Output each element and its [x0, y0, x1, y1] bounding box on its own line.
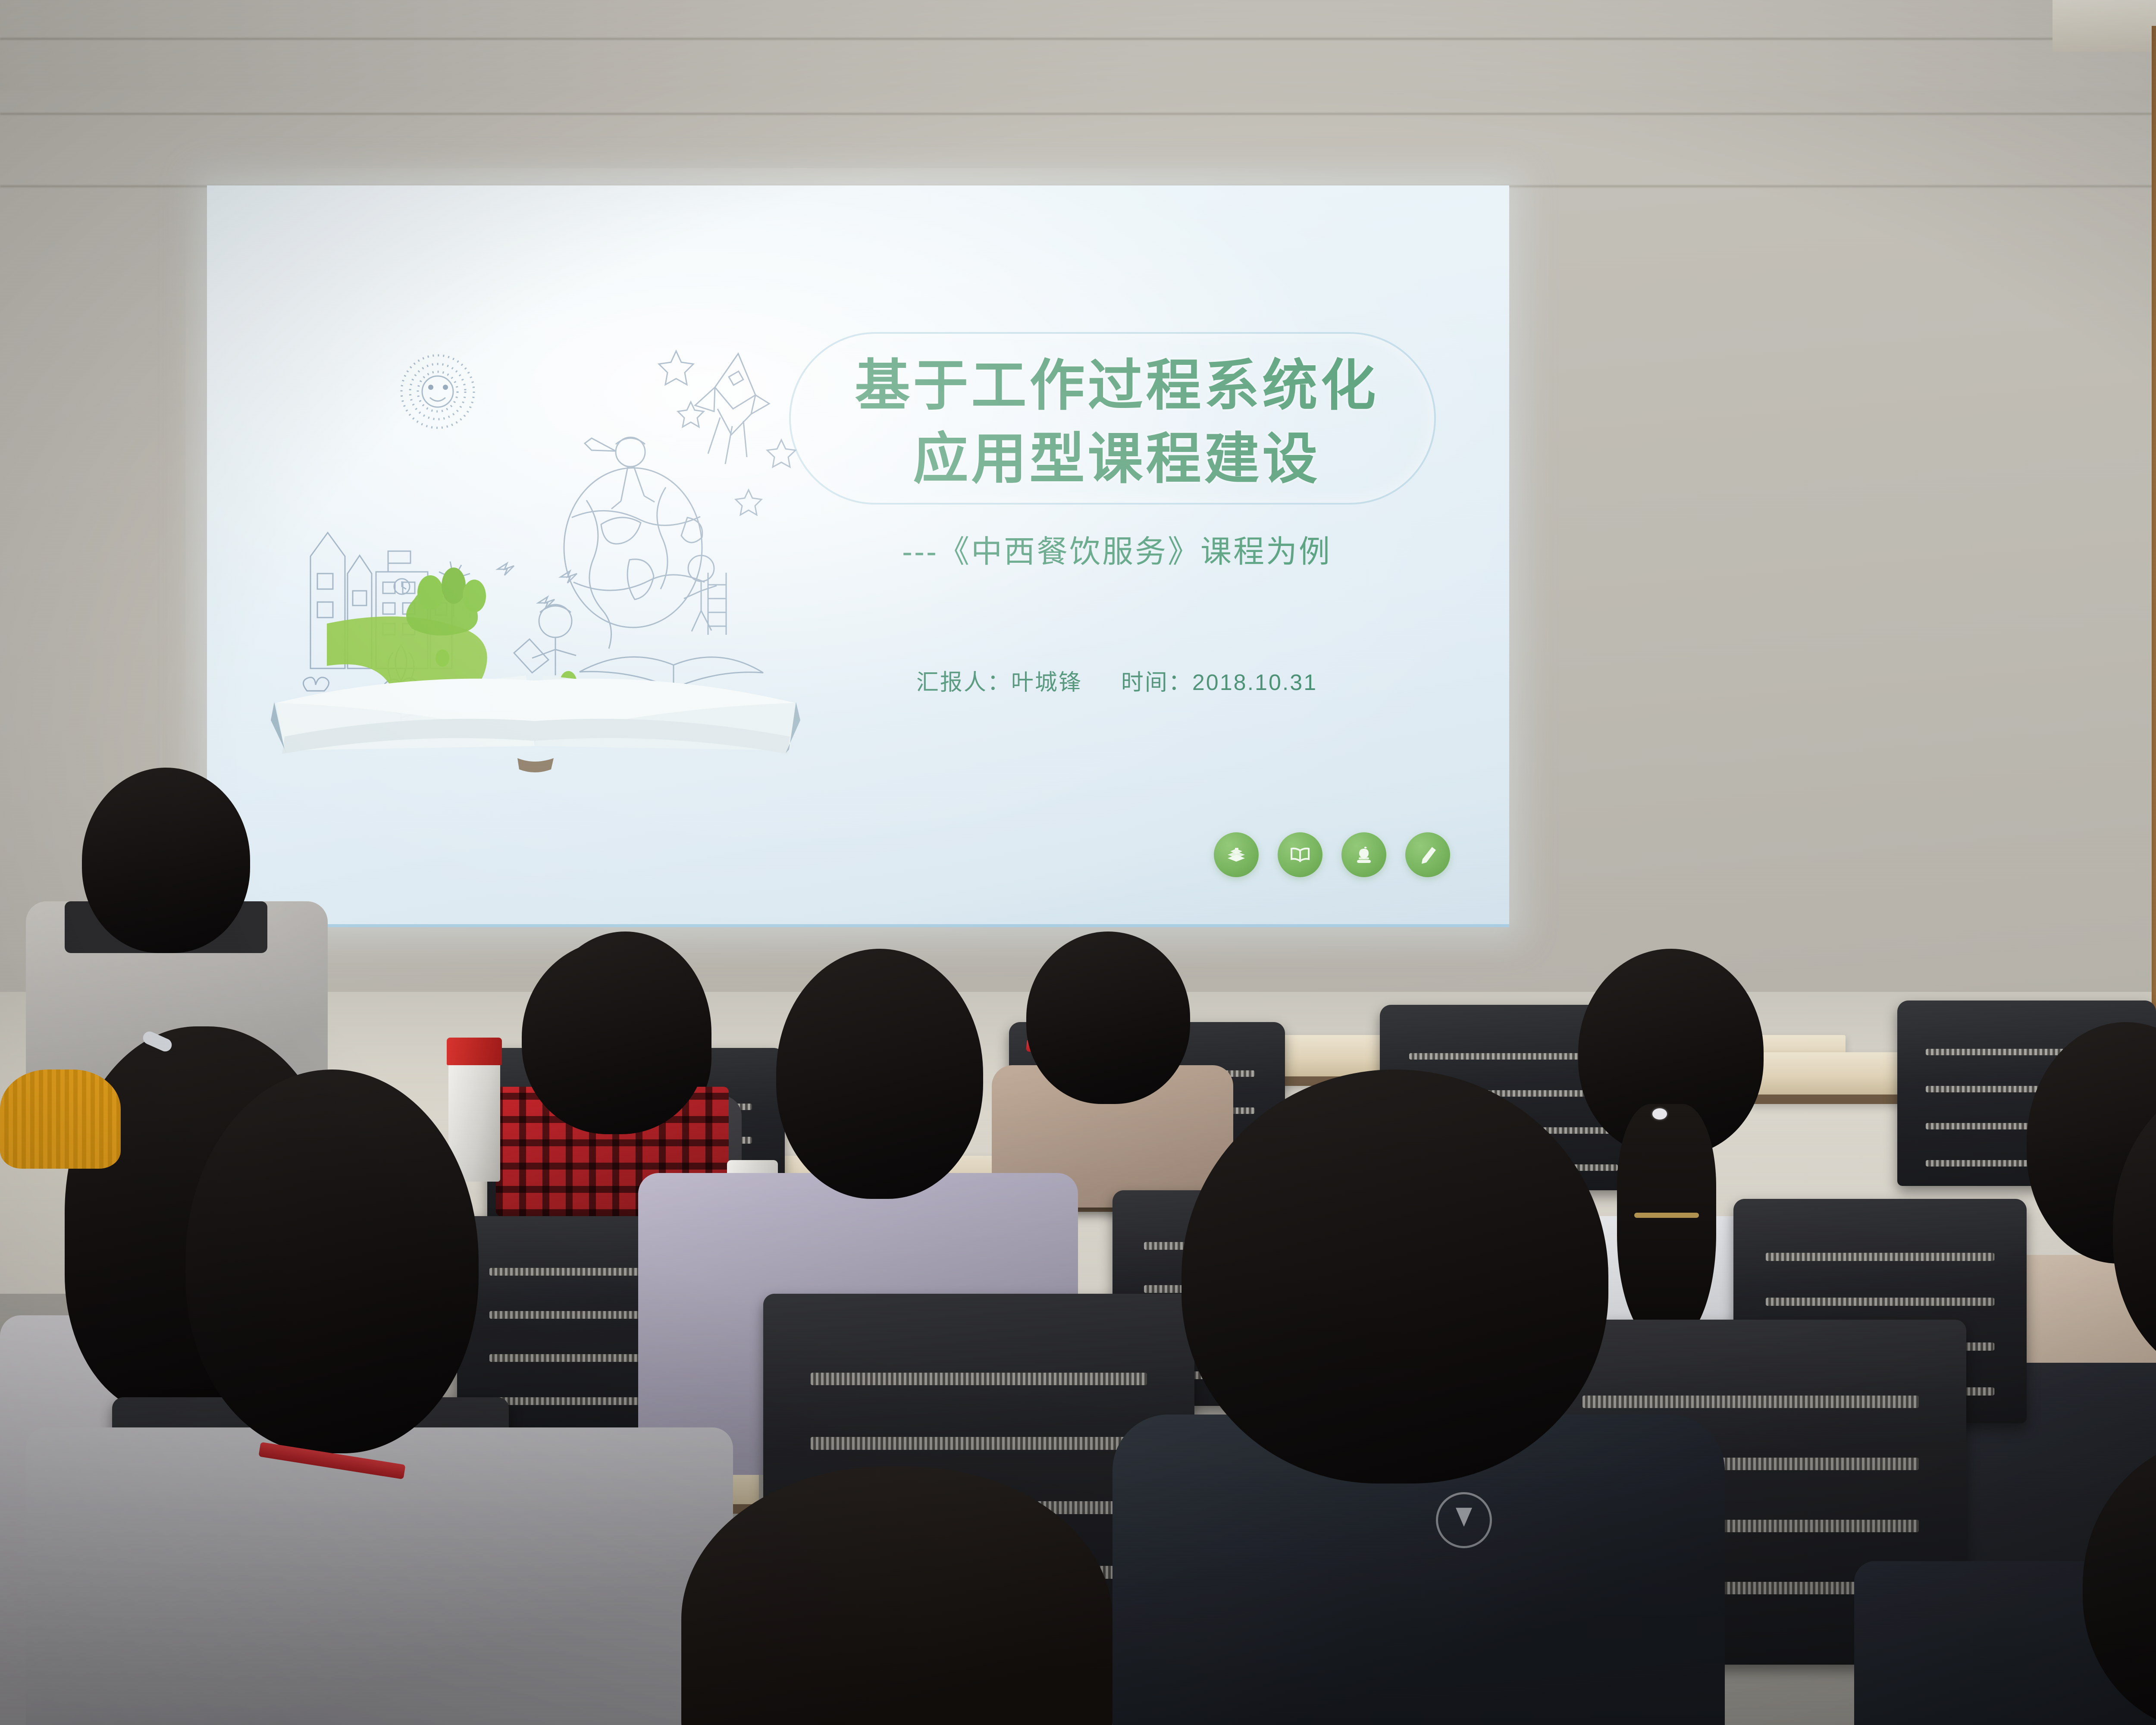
open-book-illustration — [259, 315, 811, 789]
audience-tan-jacket-head — [1026, 931, 1190, 1104]
wall-upper-band — [0, 0, 2156, 91]
stacked-books-icon — [1214, 832, 1259, 877]
slide-meta: 汇报人：叶城锋时间：2018.10.31 — [785, 664, 1449, 696]
ceiling-strip — [2053, 0, 2156, 52]
screen-bottom-edge — [207, 924, 1509, 927]
projection-screen: 基于工作过程系统化 应用型课程建设 ---《中西餐饮服务》课程为例 汇报人：叶城… — [207, 185, 1509, 927]
audience-red-plaid-head — [522, 940, 707, 1134]
slide-icon-row — [1214, 832, 1450, 877]
date-label: 时间： — [1121, 670, 1192, 695]
slide-title-line-2: 应用型课程建设 — [811, 423, 1423, 496]
audience-dark-vest-head — [1181, 1069, 1608, 1483]
audience-ponytail-white — [1617, 1104, 1716, 1345]
lecture-hall-photo: 基于工作过程系统化 应用型课程建设 ---《中西餐饮服务》课程为例 汇报人：叶城… — [0, 0, 2156, 1725]
presenter-name: 叶城锋 — [1011, 670, 1082, 695]
audience-bottom-left-head — [185, 1069, 479, 1453]
presenter-label: 汇报人： — [916, 670, 1011, 695]
vest-laurel-logo — [1436, 1492, 1492, 1548]
yellow-beanie — [0, 1069, 121, 1169]
slide-title: 基于工作过程系统化 应用型课程建设 — [811, 349, 1423, 496]
apple-on-book-icon — [1341, 832, 1386, 877]
date-value: 2018.10.31 — [1192, 670, 1317, 695]
open-book-icon — [1278, 832, 1322, 877]
audience-man-gray-shirt-head — [82, 768, 250, 953]
slide-surface: 基于工作过程系统化 应用型课程建设 ---《中西餐饮服务》课程为例 汇报人：叶城… — [207, 185, 1509, 927]
necklace — [1634, 1213, 1699, 1218]
wall-corner-trim — [2152, 26, 2156, 1134]
wall-seam-1 — [0, 113, 2156, 115]
slide-subtitle: ---《中西餐饮服务》课程为例 — [789, 526, 1445, 571]
slide-title-line-1: 基于工作过程系统化 — [811, 349, 1423, 423]
wall-seam-3 — [0, 38, 2156, 40]
hair-tie-white-top — [1652, 1108, 1667, 1120]
audience-lavender-shirt-head — [776, 949, 983, 1199]
pencil-icon — [1405, 832, 1450, 877]
